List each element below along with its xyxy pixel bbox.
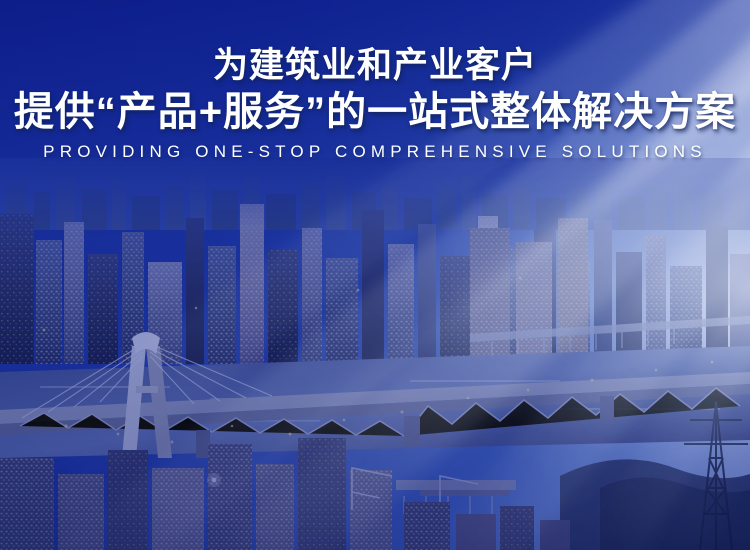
headline-line-1: 为建筑业和产业客户 [0, 48, 750, 83]
headline-block: 为建筑业和产业客户 提供“产品+服务”的一站式整体解决方案 PROVIDING … [0, 48, 750, 162]
subtitle-english: PROVIDING ONE-STOP COMPREHENSIVE SOLUTIO… [0, 142, 750, 162]
headline-line-2: 提供“产品+服务”的一站式整体解决方案 [0, 92, 750, 132]
hero-banner: 为建筑业和产业客户 提供“产品+服务”的一站式整体解决方案 PROVIDING … [0, 0, 750, 550]
